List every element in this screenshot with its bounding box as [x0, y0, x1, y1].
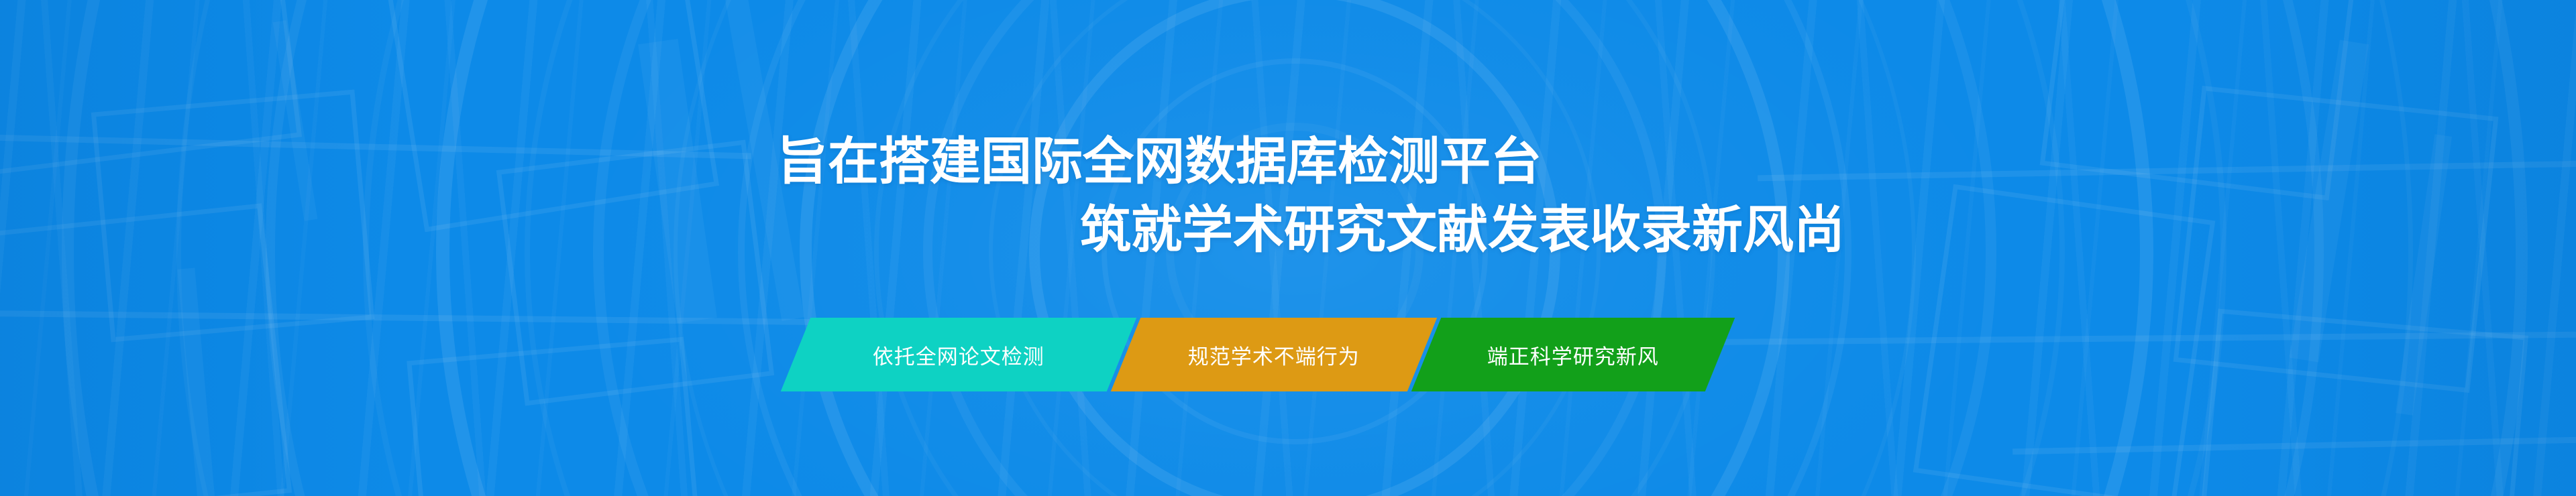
headline-line-2: 筑就学术研究文献发表收录新风尚 — [1080, 205, 1845, 256]
feature-tag-label: 规范学术不端行为 — [1188, 340, 1360, 370]
feature-tag-strip: 依托全网论文检测 规范学术不端行为 端正科学研究新风 — [0, 318, 2576, 391]
feature-tag-label: 依托全网论文检测 — [873, 340, 1044, 370]
hero-banner: 旨在搭建国际全网数据库检测平台 筑就学术研究文献发表收录新风尚 依托全网论文检测… — [0, 0, 2576, 496]
feature-tag-academic-misconduct[interactable]: 规范学术不端行为 — [1111, 318, 1437, 391]
headline-group: 旨在搭建国际全网数据库检测平台 筑就学术研究文献发表收录新风尚 — [0, 0, 2576, 496]
feature-tag-paper-detection[interactable]: 依托全网论文检测 — [781, 318, 1136, 391]
feature-tag-research-ethics[interactable]: 端正科学研究新风 — [1411, 318, 1735, 391]
feature-tag-label: 端正科学研究新风 — [1487, 340, 1659, 370]
headline-line-1: 旨在搭建国际全网数据库检测平台 — [777, 137, 1542, 188]
